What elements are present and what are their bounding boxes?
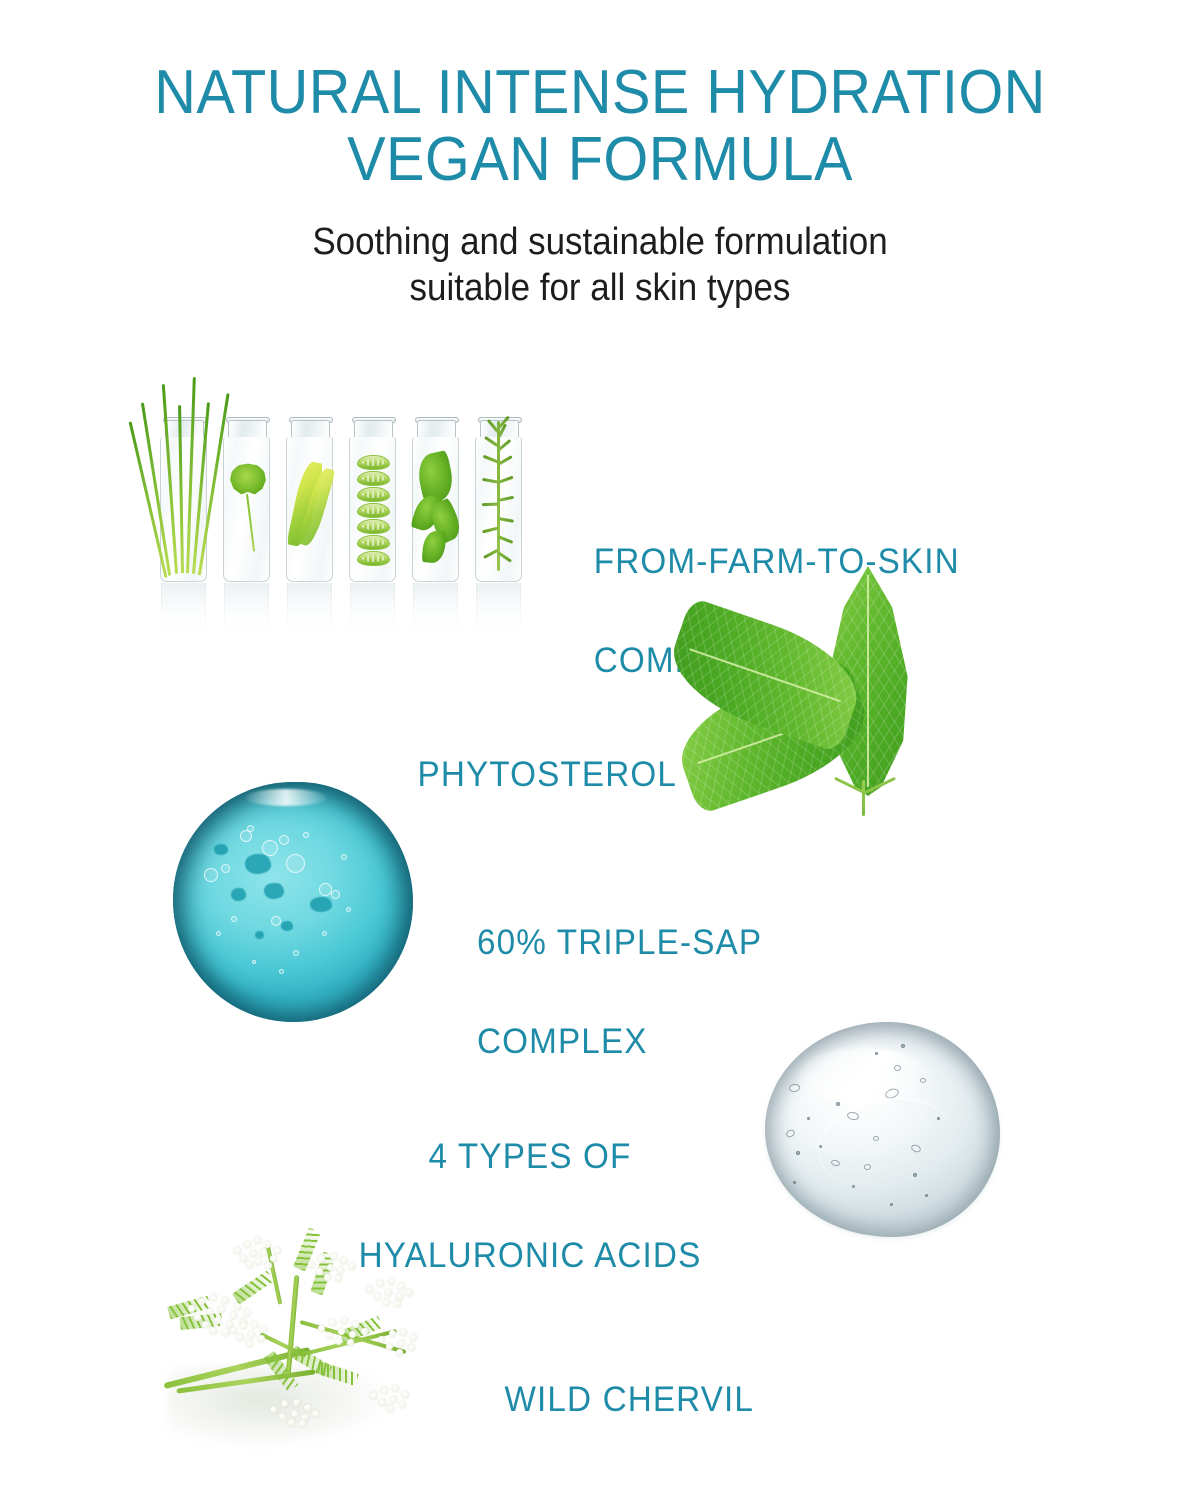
leaf-stalk bbox=[862, 780, 865, 816]
rosemary-sprig-icon bbox=[476, 437, 521, 581]
clear-gel-blob bbox=[765, 1022, 1000, 1237]
leaf-midrib bbox=[867, 575, 869, 787]
chervil-umbel bbox=[268, 1397, 326, 1427]
vial-rosemary bbox=[475, 437, 522, 582]
ingredient-label-line-2: COMPLEX bbox=[477, 1022, 648, 1061]
three-green-leaves-photo bbox=[665, 560, 1085, 860]
chervil-umbel bbox=[364, 1277, 420, 1309]
clear-gel-droplet-photo bbox=[765, 1022, 1000, 1237]
infographic-page: NATURAL INTENSE HYDRATION VEGAN FORMULA … bbox=[0, 0, 1200, 1500]
ingredient-label-line-1: 60% TRIPLE-SAP bbox=[477, 923, 762, 962]
chervil-umbel bbox=[368, 1383, 422, 1413]
centella-leaf-icon bbox=[224, 437, 269, 581]
vial-avocado bbox=[286, 437, 333, 582]
vial-wheatgrass bbox=[160, 437, 207, 582]
vial-reflection bbox=[224, 583, 269, 635]
ingredient-label-wild-chervil: WILD CHERVIL bbox=[505, 1325, 790, 1424]
vial-neck bbox=[165, 420, 204, 437]
chervil-umbel bbox=[306, 1251, 364, 1283]
chervil-umbel bbox=[232, 1237, 292, 1271]
chervil-umbel bbox=[316, 1315, 376, 1347]
botanical-vials-photo bbox=[160, 405, 540, 640]
chervil-umbel bbox=[376, 1327, 432, 1357]
vial-reflection bbox=[413, 583, 458, 635]
vial-neck bbox=[354, 420, 393, 437]
page-subtitle-line-1: Soothing and sustainable formulation bbox=[48, 220, 1152, 266]
wild-chervil-flower-photo bbox=[140, 1215, 460, 1460]
ingredient-label-line-1: WILD CHERVIL bbox=[505, 1380, 755, 1419]
vial-neck bbox=[228, 420, 267, 437]
vial-aloe bbox=[349, 437, 396, 582]
header: NATURAL INTENSE HYDRATION VEGAN FORMULA … bbox=[0, 60, 1200, 311]
vial-neck bbox=[417, 420, 456, 437]
page-subtitle: Soothing and sustainable formulation sui… bbox=[48, 220, 1152, 311]
chervil-umbel bbox=[228, 1319, 278, 1347]
mint-leaves-icon bbox=[413, 437, 458, 581]
vial-reflection bbox=[161, 583, 206, 635]
ingredient-label-line-1: PHYTOSTEROL bbox=[418, 755, 678, 794]
vial-reflection bbox=[287, 583, 332, 635]
vial-centella bbox=[223, 437, 270, 582]
blue-gel-blob bbox=[173, 782, 413, 1022]
wheatgrass-icon bbox=[161, 437, 206, 581]
aloe-vera-slices-icon bbox=[350, 437, 395, 581]
page-title-line-2: VEGAN FORMULA bbox=[42, 127, 1158, 194]
page-subtitle-line-2: suitable for all skin types bbox=[48, 266, 1152, 312]
vial-reflection bbox=[350, 583, 395, 635]
vial-mint bbox=[412, 437, 459, 582]
ingredient-label-phytosterol: PHYTOSTEROL bbox=[418, 700, 703, 799]
vial-neck bbox=[291, 420, 330, 437]
page-title: NATURAL INTENSE HYDRATION VEGAN FORMULA bbox=[42, 60, 1158, 194]
ingredient-label-line-1: 4 TYPES OF bbox=[429, 1137, 632, 1176]
page-title-line-1: NATURAL INTENSE HYDRATION bbox=[42, 60, 1158, 127]
blue-gel-droplet-photo bbox=[173, 782, 413, 1022]
avocado-slice-icon bbox=[287, 437, 332, 581]
vial-reflection bbox=[476, 583, 521, 635]
